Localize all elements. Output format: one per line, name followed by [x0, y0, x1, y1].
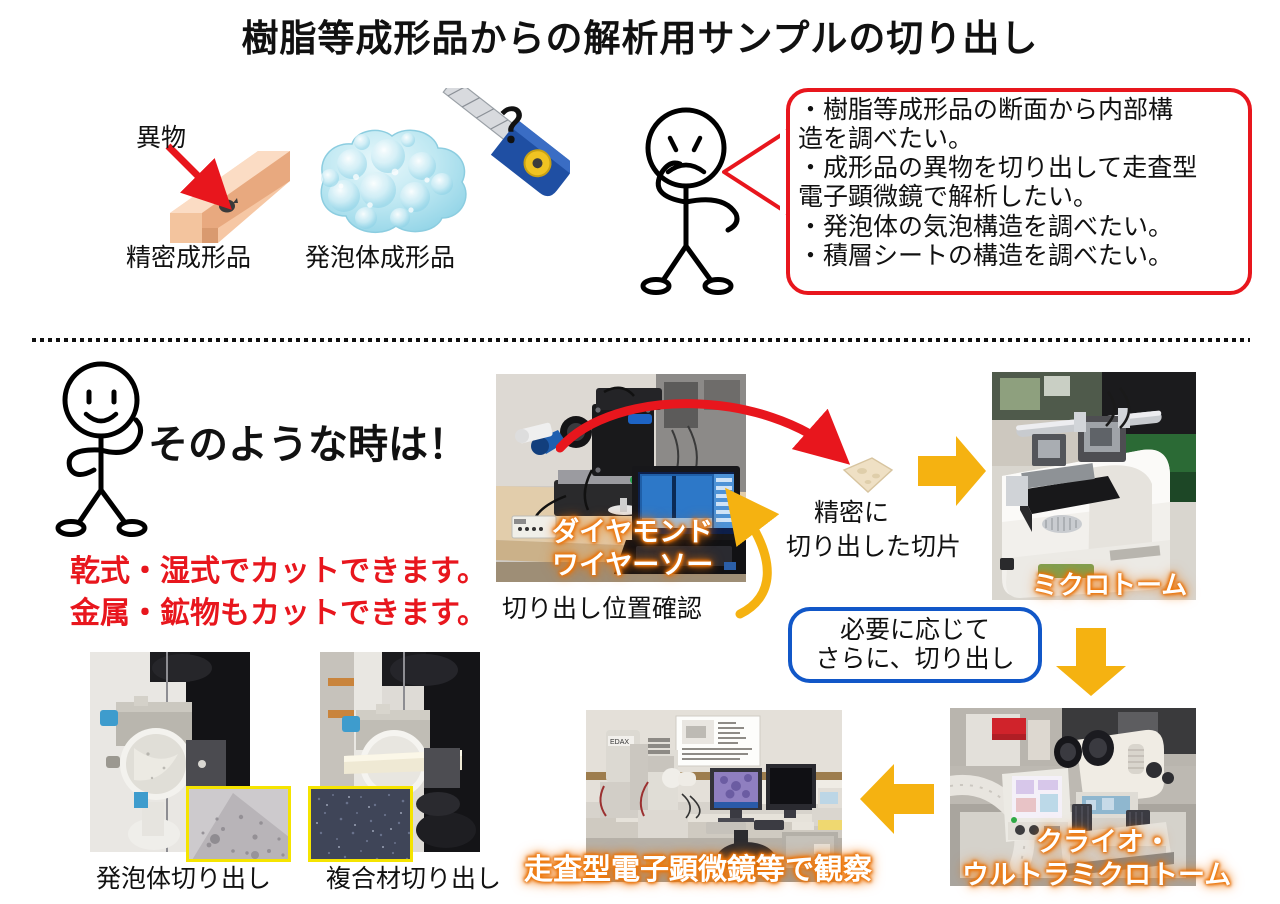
requirement-line-3: ・成形品の異物を切り出して走査型: [798, 154, 1250, 183]
section-divider: [32, 338, 1250, 342]
cut-specimen-illustration: [838, 452, 898, 500]
requirement-line-1: ・樹脂等成形品の断面から内部構: [798, 96, 1250, 125]
svg-text:EDAX: EDAX: [610, 739, 629, 746]
orange-right-arrow: [918, 434, 988, 508]
speech-bubble-tail: [722, 126, 794, 218]
precision-part-caption: 精密成形品: [126, 243, 251, 274]
sem-overlay-label: 走査型電子顕微鏡等で観察: [524, 846, 872, 888]
requirement-line-4: 電子顕微鏡で解析したい。: [798, 183, 1250, 212]
red-note-2: 金属・鉱物もカットできます。: [70, 588, 487, 632]
page-title: 樹脂等成形品からの解析用サンプルの切り出し: [0, 8, 1280, 62]
composite-closeup-inset: [308, 786, 413, 862]
orange-down-arrow: [1054, 628, 1128, 698]
requirement-line-5: ・発泡体の気泡構造を調べたい。: [798, 213, 1250, 242]
further-cutting-line-2: さらに、切り出し: [815, 645, 1014, 674]
question-mark: ？: [500, 90, 546, 156]
cryo-overlay-line-2: ウルトラミクロトーム: [962, 853, 1231, 892]
cut-position-check-caption: 切り出し位置確認: [502, 594, 702, 625]
foreign-object-label: 異物: [136, 123, 186, 154]
cut-specimen-caption-line-2: 切り出した切片: [786, 532, 961, 563]
composite-cut-caption: 複合材切り出し: [326, 864, 501, 895]
further-cutting-bubble: 必要に応じて さらに、切り出し: [788, 607, 1042, 683]
requirement-line-2: 造を調べたい。: [798, 125, 1250, 154]
orange-left-arrow: [856, 762, 934, 836]
red-note-1: 乾式・湿式でカットできます。: [70, 546, 487, 590]
requirement-line-6: ・積層シートの構造を調べたい。: [798, 242, 1250, 271]
further-cutting-line-1: 必要に応じて: [840, 616, 990, 645]
foam-closeup-inset: [186, 786, 291, 862]
solution-headline: そのような時は！: [148, 412, 468, 470]
foam-part-caption: 発泡体成形品: [305, 243, 455, 274]
cut-specimen-caption-line-1: 精密に: [814, 498, 889, 529]
requirements-text: ・樹脂等成形品の断面から内部構 造を調べたい。 ・成形品の異物を切り出して走査型…: [798, 96, 1250, 271]
slide-canvas: 樹脂等成形品からの解析用サンプルの切り出し 異物 精密成形品: [0, 0, 1280, 904]
foam-cut-caption: 発泡体切り出し: [96, 864, 271, 895]
microtome-overlay-label: ミクロトーム: [1032, 565, 1187, 602]
